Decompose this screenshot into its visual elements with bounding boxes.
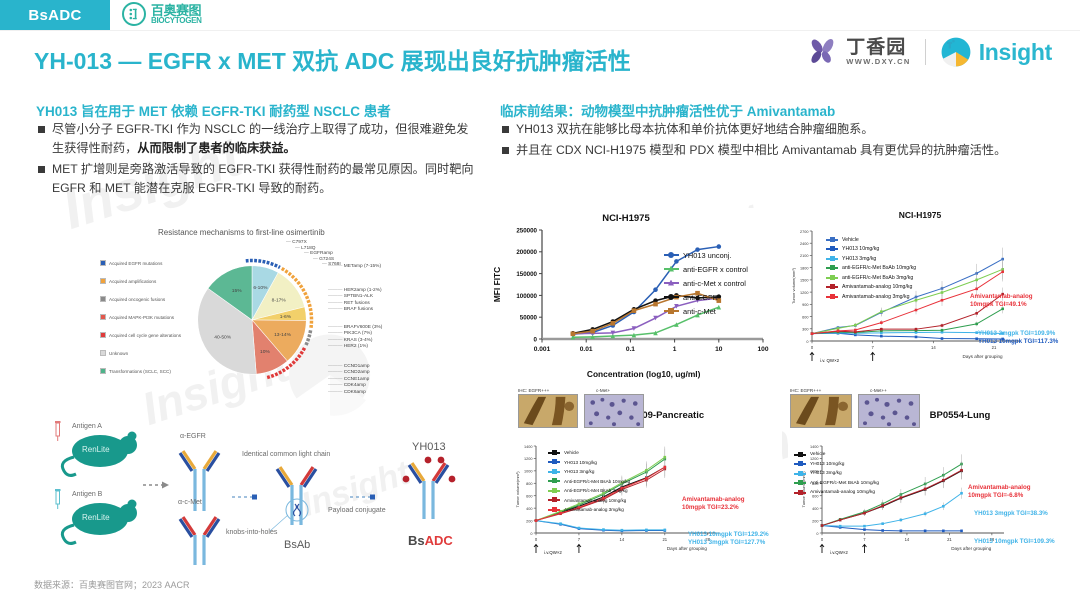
- data-point: [645, 477, 648, 480]
- pie-annotation: ——— KRAS (3-4%): [328, 338, 382, 344]
- y-tick-label: 250000: [516, 227, 537, 234]
- data-point: [611, 321, 616, 326]
- legend-marker: [826, 277, 838, 279]
- x-tick-label: 10: [715, 346, 723, 353]
- pie-legend-item: Acquired amplifications: [100, 272, 186, 290]
- data-point: [602, 528, 605, 531]
- y-tick-label: 200000: [516, 249, 537, 256]
- legend-item: anti-EGFR: [664, 290, 748, 304]
- list-item: YH013 双抗在能够比母本抗体和单价抗体更好地结合肿瘤细胞系。: [502, 120, 1042, 139]
- legend-item: YH013 3mg/kg: [794, 469, 879, 479]
- data-point: [900, 519, 903, 522]
- source-footer: 数据来源：百奥赛图官网；2023 AACR: [34, 578, 190, 591]
- insight-pie-icon: [940, 36, 972, 68]
- y-tick-label: 1000: [524, 470, 532, 474]
- y-tick-label: 400: [526, 507, 532, 511]
- y-tick-label: 1200: [524, 457, 532, 461]
- bullet-text: MET 扩增则是旁路激活导致的 EGFR-TKI 获得性耐药的最常见原因。同时靶…: [52, 160, 478, 198]
- pie-annotation: ——— HER2 (1%): [328, 344, 382, 350]
- y-tick-label: 0: [806, 340, 808, 344]
- x-axis-label: Days after grouping: [951, 546, 992, 551]
- y-tick-label: 1400: [524, 445, 532, 449]
- y-tick-label: 150000: [516, 271, 537, 278]
- x-tick-label: 1: [673, 346, 677, 353]
- data-point: [941, 324, 944, 327]
- data-point: [941, 291, 944, 294]
- pie-annotation: ——— BRAF fusions: [328, 307, 382, 313]
- data-point: [881, 522, 884, 525]
- data-point: [854, 329, 857, 332]
- arrow-icon: [350, 495, 375, 500]
- legend-marker: [664, 296, 679, 298]
- legend-swatch: [100, 296, 106, 302]
- data-point: [559, 522, 562, 525]
- series-line: [822, 493, 962, 526]
- bullet-square-icon: [38, 166, 45, 173]
- y-tick-label: 2100: [800, 254, 808, 258]
- ihc-image-egfr: [518, 394, 578, 428]
- y-tick-label: 200: [526, 519, 532, 523]
- pie-chart: 6-10%8-17%1-6%13-14%10%40-50%15%: [182, 250, 322, 390]
- x-tick-label: 21: [662, 537, 667, 542]
- pie-outer-arc: [305, 330, 310, 346]
- legend-label: Acquired cell cycle gene alterations: [109, 333, 181, 338]
- legend-item: Amivantamab-analog 10mg/kg: [794, 488, 879, 498]
- y-axis-label: Tumor volume(mm³): [515, 471, 520, 508]
- chart-legend: VehicleYH013 10mg/kgYH013 3mg/kganti-EGF…: [826, 235, 916, 302]
- data-point: [880, 328, 883, 331]
- y-tick-label: 1800: [800, 266, 808, 270]
- data-point: [653, 287, 658, 292]
- payload-conjugate-label: Payload conjugate: [328, 507, 386, 514]
- biocytogen-name-en: BIOCYTOGEN: [151, 17, 202, 25]
- biocytogen-mark-icon: [122, 2, 146, 26]
- x-tick-label: 0.001: [534, 346, 551, 353]
- pie-chart-title: Resistance mechanisms to first-line osim…: [158, 228, 325, 237]
- bullet-square-icon: [502, 147, 509, 154]
- y-tick-label: 400: [812, 507, 818, 511]
- legend-marker: [548, 490, 560, 492]
- arrow-icon: [232, 495, 257, 500]
- data-point: [578, 527, 581, 530]
- data-point: [924, 512, 927, 515]
- x-tick-label: 7: [871, 345, 874, 350]
- legend-label: anti-EGFR/c-Met BsAb 3mg/kg: [842, 275, 913, 281]
- legend-label: anti-EGFR x control: [683, 265, 748, 274]
- data-point: [839, 519, 842, 522]
- y-tick-label: 600: [802, 315, 808, 319]
- pie-annotation: ——— SPTBN1-ALK: [328, 294, 382, 300]
- slide-root: Insight Insight Insight Insight Insight …: [0, 0, 1080, 605]
- y-tick-label: 1400: [810, 445, 818, 449]
- legend-item: anti-EGFR/c-Met BsAb 10mg/kg: [826, 264, 916, 274]
- series-line: [812, 333, 1003, 339]
- pie-slice-label: 13-14%: [274, 332, 292, 338]
- legend-label: YH013 10mg/kg: [564, 460, 597, 465]
- legend-marker: [826, 286, 838, 288]
- pie-annotation: ——— CCNE1amp: [328, 377, 382, 383]
- bullet-text: 并且在 CDX NCI-H1975 模型和 PDX 模型中相比 Amivanta…: [516, 141, 1006, 160]
- dosing-arrow-icon: [534, 545, 538, 554]
- legend-item: Vehicle: [826, 235, 916, 245]
- x-tick-label: 21: [947, 537, 952, 542]
- data-point: [621, 529, 624, 532]
- bsadc-label: BsADC: [408, 533, 453, 548]
- dosing-arrow-icon: [810, 353, 814, 362]
- antigen-b-label: Antigen B: [72, 491, 102, 498]
- bullet-text-emphasis: 从而限制了患者的临床获益。: [137, 141, 295, 155]
- legend-label: anti-c-Met x control: [683, 279, 746, 288]
- legend-item: Anti-EGFR/c-Met BsAb 10mg/kg: [548, 477, 630, 487]
- y-tick-label: 300: [802, 328, 808, 332]
- chart-binding-nci-h1975: 0500001000001500002000002500000.0010.010…: [490, 208, 775, 383]
- chart-annotation: Amivantamab-analog10mgpk TGI=23.2%: [682, 496, 745, 513]
- legend-label: Acquired amplifications: [109, 279, 156, 284]
- alpha-egfr-label: α-EGFR: [180, 433, 206, 440]
- pie-annotation: ——— CCND1amp: [328, 364, 382, 370]
- data-point: [645, 529, 648, 532]
- data-point: [839, 525, 842, 528]
- legend-marker: [794, 463, 806, 465]
- pie-annotation: ——— METamp (7-15%): [328, 264, 382, 270]
- legend-swatch: [100, 350, 106, 356]
- x-tick-label: 0: [821, 537, 824, 542]
- data-point: [975, 312, 978, 315]
- data-point: [535, 519, 538, 522]
- legend-item: YH013 10mg/kg: [548, 458, 630, 468]
- legend-marker: [794, 482, 806, 484]
- y-axis-label: Tumor volume(mm³): [791, 267, 796, 304]
- pie-legend-item: Acquired MAPK-PI3K mutations: [100, 308, 186, 326]
- data-point: [915, 309, 918, 312]
- legend-marker: [794, 473, 806, 475]
- pie-slice-label: 10%: [260, 349, 270, 355]
- legend-label: YH013 10mg/kg: [842, 246, 879, 252]
- legend-item: anti-EGFR x control: [664, 262, 748, 276]
- y-tick-label: 900: [802, 303, 808, 307]
- legend-marker: [664, 282, 679, 284]
- data-point: [1001, 270, 1004, 273]
- x-tick-label: 0: [535, 537, 538, 542]
- legend-item: Amivantamab-analog 3mg/kg: [548, 505, 630, 515]
- x-axis-label: Concentration (log10, ug/ml): [587, 369, 701, 379]
- legend-item: Amivantamab-analog 3mg/kg: [826, 292, 916, 302]
- chart-title: NCI-H1975: [899, 210, 942, 220]
- left-section-heading: YH013 旨在用于 MET 依赖 EGFR-TKI 耐药型 NSCLC 患者: [36, 100, 391, 120]
- data-point: [941, 299, 944, 302]
- pie-annotation: ——— BRAFV600E (3%): [328, 325, 382, 331]
- chart-annotation: YH013 3mgpk TGI=38.3%: [974, 510, 1048, 518]
- antibody-schematic: Antigen A Antigen B RenLite RenLite α-EG…: [20, 415, 490, 565]
- legend-label: Amivantamab-analog 3mg/kg: [842, 294, 909, 300]
- dxy-url: WWW.DXY.CN: [846, 58, 910, 66]
- pie-legend-item: Acquired oncogenic fusions: [100, 290, 186, 308]
- x-tick-label: 0.01: [580, 346, 593, 353]
- pie-slice-label: 6-10%: [253, 285, 268, 291]
- legend-marker: [826, 267, 838, 269]
- y-tick-label: 0: [816, 532, 818, 536]
- legend-item: YH013 10mg/kg: [794, 460, 879, 470]
- legend-marker: [794, 492, 806, 494]
- data-point: [664, 529, 667, 532]
- pie-slice-label: 1-6%: [280, 314, 292, 320]
- data-point: [975, 279, 978, 282]
- legend-label: anti-EGFR/c-Met BsAb 10mg/kg: [842, 265, 916, 271]
- legend-item: anti-c-Met: [664, 304, 748, 318]
- data-point: [821, 524, 824, 527]
- x-tick-label: 14: [931, 345, 936, 350]
- legend-label: Unknown: [109, 351, 128, 356]
- chart-annotation: YH013 10mgpk TGI=117.3%: [978, 338, 1058, 346]
- legend-item: Amivantamab-analog 10mg/kg: [548, 496, 630, 506]
- y-tick-label: 800: [526, 482, 532, 486]
- x-tick-label: 100: [757, 346, 768, 353]
- common-light-chain-label: Identical common light chain: [242, 451, 330, 458]
- page-title: YH-013 — EGFR x MET 双抗 ADC 展现出良好抗肿瘤活性: [34, 42, 631, 76]
- data-point: [960, 469, 963, 472]
- pie-legend-item: Transformations (SCLC, SCC): [100, 362, 186, 380]
- bsadc-icon: [403, 457, 456, 519]
- data-point: [924, 488, 927, 491]
- data-point: [960, 530, 963, 533]
- legend-label: Anti-EGFR/c-Met BsAb 3mg/kg: [564, 488, 628, 493]
- y-tick-label: 100000: [516, 293, 537, 300]
- pie-right-labels: ——— METamp (7-15%)——— HER2amp (1-2%)——— …: [328, 242, 382, 395]
- legend-label: YH013 unconj.: [683, 251, 731, 260]
- data-point: [941, 329, 944, 332]
- legend-label: YH013 3mg/kg: [810, 471, 842, 476]
- list-item: 并且在 CDX NCI-H1975 模型和 PDX 模型中相比 Amivanta…: [502, 141, 1042, 160]
- mouse-label: RenLite: [82, 445, 110, 454]
- legend-marker: [826, 258, 838, 260]
- chart-title: BP0554-Lung: [930, 410, 991, 421]
- pie-legend-item: Unknown: [100, 344, 186, 362]
- chart-legend: VehicleYH013 10mg/kgYH013 3mg/kgAnti-EGF…: [548, 448, 630, 515]
- legend-label: Vehicle: [842, 237, 859, 243]
- bsadc-prefix: Bs: [408, 533, 425, 548]
- pie-annotation: ——— PIK3CA (7%): [328, 331, 382, 337]
- ihc-image-cmet: [584, 394, 644, 428]
- data-point: [863, 512, 866, 515]
- legend-item: anti-EGFR/c-Met BsAb 3mg/kg: [826, 273, 916, 283]
- dxy-flower-icon: [806, 37, 840, 67]
- syringe-a-icon: [55, 421, 61, 441]
- chart-title: NCI-H1975: [602, 213, 650, 224]
- list-item: 尽管小分子 EGFR-TKI 作为 NSCLC 的一线治疗上取得了成功，但很难避…: [38, 120, 478, 158]
- pie-legend-item: Acquired EGFR mutations: [100, 254, 186, 272]
- chart-annotation: Amivantamab-analog10mgpk TGI=-6.8%: [968, 484, 1031, 501]
- data-point: [941, 337, 944, 340]
- legend-item: YH013 3mg/kg: [826, 254, 916, 264]
- y-tick-label: 2400: [800, 242, 808, 246]
- y-tick-label: 2700: [800, 230, 808, 234]
- legend-label: Acquired MAPK-PI3K mutations: [109, 315, 174, 320]
- legend-marker: [826, 296, 838, 298]
- legend-label: Amivantamab-analog 3mg/kg: [564, 507, 624, 512]
- chart-tumor-nci-h1975: 0300600900120015001800210024002700071421…: [770, 205, 1078, 385]
- legend-item: YH013 unconj.: [664, 248, 748, 262]
- legend-item: YH013 3mg/kg: [548, 467, 630, 477]
- x-tick-label: 14: [905, 537, 910, 542]
- list-item: MET 扩增则是旁路激活导致的 EGFR-TKI 获得性耐药的最常见原因。同时靶…: [38, 160, 478, 198]
- insight-name: Insight: [979, 39, 1052, 66]
- resistance-pie-figure: Resistance mechanisms to first-line osim…: [100, 228, 450, 393]
- pie-legend-item: Acquired cell cycle gene alterations: [100, 326, 186, 344]
- pie-slice-label: 8-17%: [272, 297, 287, 303]
- dosing-label: i.v. QW×2: [820, 358, 840, 363]
- dosing-arrow-icon: [577, 545, 581, 554]
- logo-divider: [925, 39, 926, 65]
- bullet-text: YH013 双抗在能够比母本抗体和单价抗体更好地结合肿瘤细胞系。: [516, 120, 874, 139]
- chart-bp0554-lung: 020040060080010001200140007142128BP0554-…: [788, 388, 1080, 573]
- legend-label: Acquired oncogenic fusions: [109, 297, 165, 302]
- data-point: [900, 496, 903, 499]
- y-tick-label: 50000: [520, 315, 538, 322]
- legend-marker: [548, 471, 560, 473]
- chart-annotation: Amivantamab-analog10mgpk TGI=49.1%: [970, 293, 1033, 310]
- bullet-square-icon: [38, 126, 45, 133]
- legend-swatch: [100, 368, 106, 374]
- x-tick-label: 7: [578, 537, 581, 542]
- right-bullets: YH013 双抗在能够比母本抗体和单价抗体更好地结合肿瘤细胞系。 并且在 CDX…: [502, 120, 1042, 162]
- y-tick-label: 1500: [800, 279, 808, 283]
- bsab-icon: [277, 467, 316, 525]
- ihc-caption-egfr: IHC: EGFR+++: [518, 388, 549, 393]
- legend-label: Anti-EGFR/c-Met BsAb 10mg/kg: [564, 479, 630, 484]
- y-tick-label: 0: [534, 336, 538, 343]
- data-point: [881, 529, 884, 532]
- dosing-arrow-icon: [820, 545, 824, 554]
- x-tick-label: 14: [620, 537, 625, 542]
- data-point: [915, 328, 918, 331]
- chart-annotation: YH013 10mgpk TGI=109.3%: [974, 538, 1055, 546]
- ihc-caption-egfr: IHC: EGFR+++: [790, 388, 821, 393]
- data-point: [880, 335, 883, 338]
- x-tick-label: 7: [863, 537, 866, 542]
- y-tick-label: 600: [526, 495, 532, 499]
- legend-label: YH013 3mg/kg: [564, 469, 594, 474]
- legend-marker: [548, 480, 560, 482]
- y-tick-label: 1200: [800, 291, 808, 295]
- biocytogen-name-cn: 百奥赛图: [151, 4, 202, 17]
- x-axis-label: Days after grouping: [963, 354, 1004, 359]
- antigen-a-label: Antigen A: [72, 423, 102, 430]
- legend-label: Amivantamab-analog 10mg/kg: [564, 498, 626, 503]
- legend-swatch: [100, 278, 106, 284]
- ihc-caption-cmet: c-Met++: [870, 388, 887, 393]
- bsadc-tag: BsADC: [0, 0, 110, 30]
- legend-marker: [664, 268, 679, 270]
- yh013-label: YH013: [412, 441, 446, 453]
- chart-legend: YH013 unconj.anti-EGFR x controlanti-c-M…: [664, 248, 748, 318]
- legend-label: YH013 3mg/kg: [842, 256, 876, 262]
- legend-marker: [548, 509, 560, 511]
- legend-swatch: [100, 260, 106, 266]
- data-point: [880, 321, 883, 324]
- legend-item: YH013 10mg/kg: [826, 245, 916, 255]
- pie-annotation: ——— RET fusions: [328, 301, 382, 307]
- legend-marker: [548, 499, 560, 501]
- dxy-name: 丁香园: [846, 38, 910, 57]
- pie-slice-label: 40-50%: [214, 334, 232, 340]
- header-divider: [0, 30, 1080, 31]
- series-line: [812, 309, 1003, 334]
- data-point: [863, 525, 866, 528]
- data-point: [880, 310, 883, 313]
- legend-item: Vehicle: [548, 448, 630, 458]
- legend-marker: [664, 310, 679, 312]
- dosing-arrow-icon: [871, 353, 875, 362]
- data-point: [653, 302, 658, 307]
- data-point: [590, 329, 595, 334]
- data-point: [924, 530, 927, 533]
- pie-annotation: ——— CCND2amp: [328, 370, 382, 376]
- mouse-label: RenLite: [82, 513, 110, 522]
- ihc-image-egfr: [790, 394, 852, 428]
- left-bullets: 尽管小分子 EGFR-TKI 作为 NSCLC 的一线治疗上取得了成功，但很难避…: [38, 120, 478, 200]
- biocytogen-logo: 百奥赛图 BIOCYTOGEN: [122, 2, 202, 26]
- bsab-label: BsAb: [284, 539, 310, 551]
- syringe-b-icon: [55, 489, 61, 509]
- data-point: [632, 308, 637, 313]
- data-point: [942, 530, 945, 533]
- legend-marker: [826, 239, 838, 241]
- pie-svg: 6-10%8-17%1-6%13-14%10%40-50%15%: [182, 250, 322, 390]
- y-axis-label: MFI FITC: [492, 267, 502, 302]
- legend-marker: [826, 248, 838, 250]
- legend-swatch: [100, 314, 106, 320]
- legend-label: Vehicle: [810, 452, 825, 457]
- brand-logos: 丁香园 WWW.DXY.CN Insight: [806, 36, 1052, 68]
- legend-marker: [794, 454, 806, 456]
- antibody-cmet-icon: [180, 517, 219, 565]
- data-point: [664, 466, 667, 469]
- legend-label: Amivantamab-analog 10mg/kg: [810, 490, 875, 495]
- legend-label: anti-c-Met: [683, 307, 716, 316]
- top-bar: BsADC 百奥赛图 BIOCYTOGEN: [0, 0, 1080, 30]
- data-point: [571, 331, 576, 336]
- pie-legend: Acquired EGFR mutationsAcquired amplific…: [100, 254, 186, 380]
- dosing-label: i.v.QW×2: [830, 550, 848, 555]
- data-point: [975, 323, 978, 326]
- y-tick-label: 0: [530, 532, 532, 536]
- data-point: [975, 288, 978, 291]
- data-point: [837, 330, 840, 333]
- insight-logo: Insight: [940, 36, 1052, 68]
- legend-item: Anti-EGFR/c-Met BsAb 10mg/kg: [794, 479, 879, 489]
- chart-bp209-pancreatic: 020040060080010001200140007142128BP209-P…: [492, 388, 782, 573]
- data-point: [811, 332, 814, 335]
- pie-annotation: ——— CDK6amp: [328, 390, 382, 396]
- dosing-arrow-icon: [862, 545, 866, 554]
- bsadc-suffix: ADC: [425, 533, 453, 548]
- data-point: [942, 505, 945, 508]
- arrow-icon: [143, 482, 169, 489]
- pie-annotation: ——— CDK4amp: [328, 383, 382, 389]
- data-point: [915, 336, 918, 339]
- legend-item: Amivantamab-analog 10mg/kg: [826, 283, 916, 293]
- legend-label: Vehicle: [564, 450, 579, 455]
- chart-legend: VehicleYH013 10mg/kgYH013 3mg/kgAnti-EGF…: [794, 450, 879, 498]
- legend-label: Amivantamab-analog 10mg/kg: [842, 284, 912, 290]
- legend-item: Anti-EGFR/c-Met BsAb 3mg/kg: [548, 486, 630, 496]
- data-point: [960, 492, 963, 495]
- ihc-image-cmet: [858, 394, 920, 428]
- legend-marker: [664, 254, 679, 256]
- pie-slice-label: 15%: [232, 288, 242, 294]
- alpha-cmet-label: α-c-Met: [178, 499, 202, 506]
- x-tick-label: 0: [811, 345, 814, 350]
